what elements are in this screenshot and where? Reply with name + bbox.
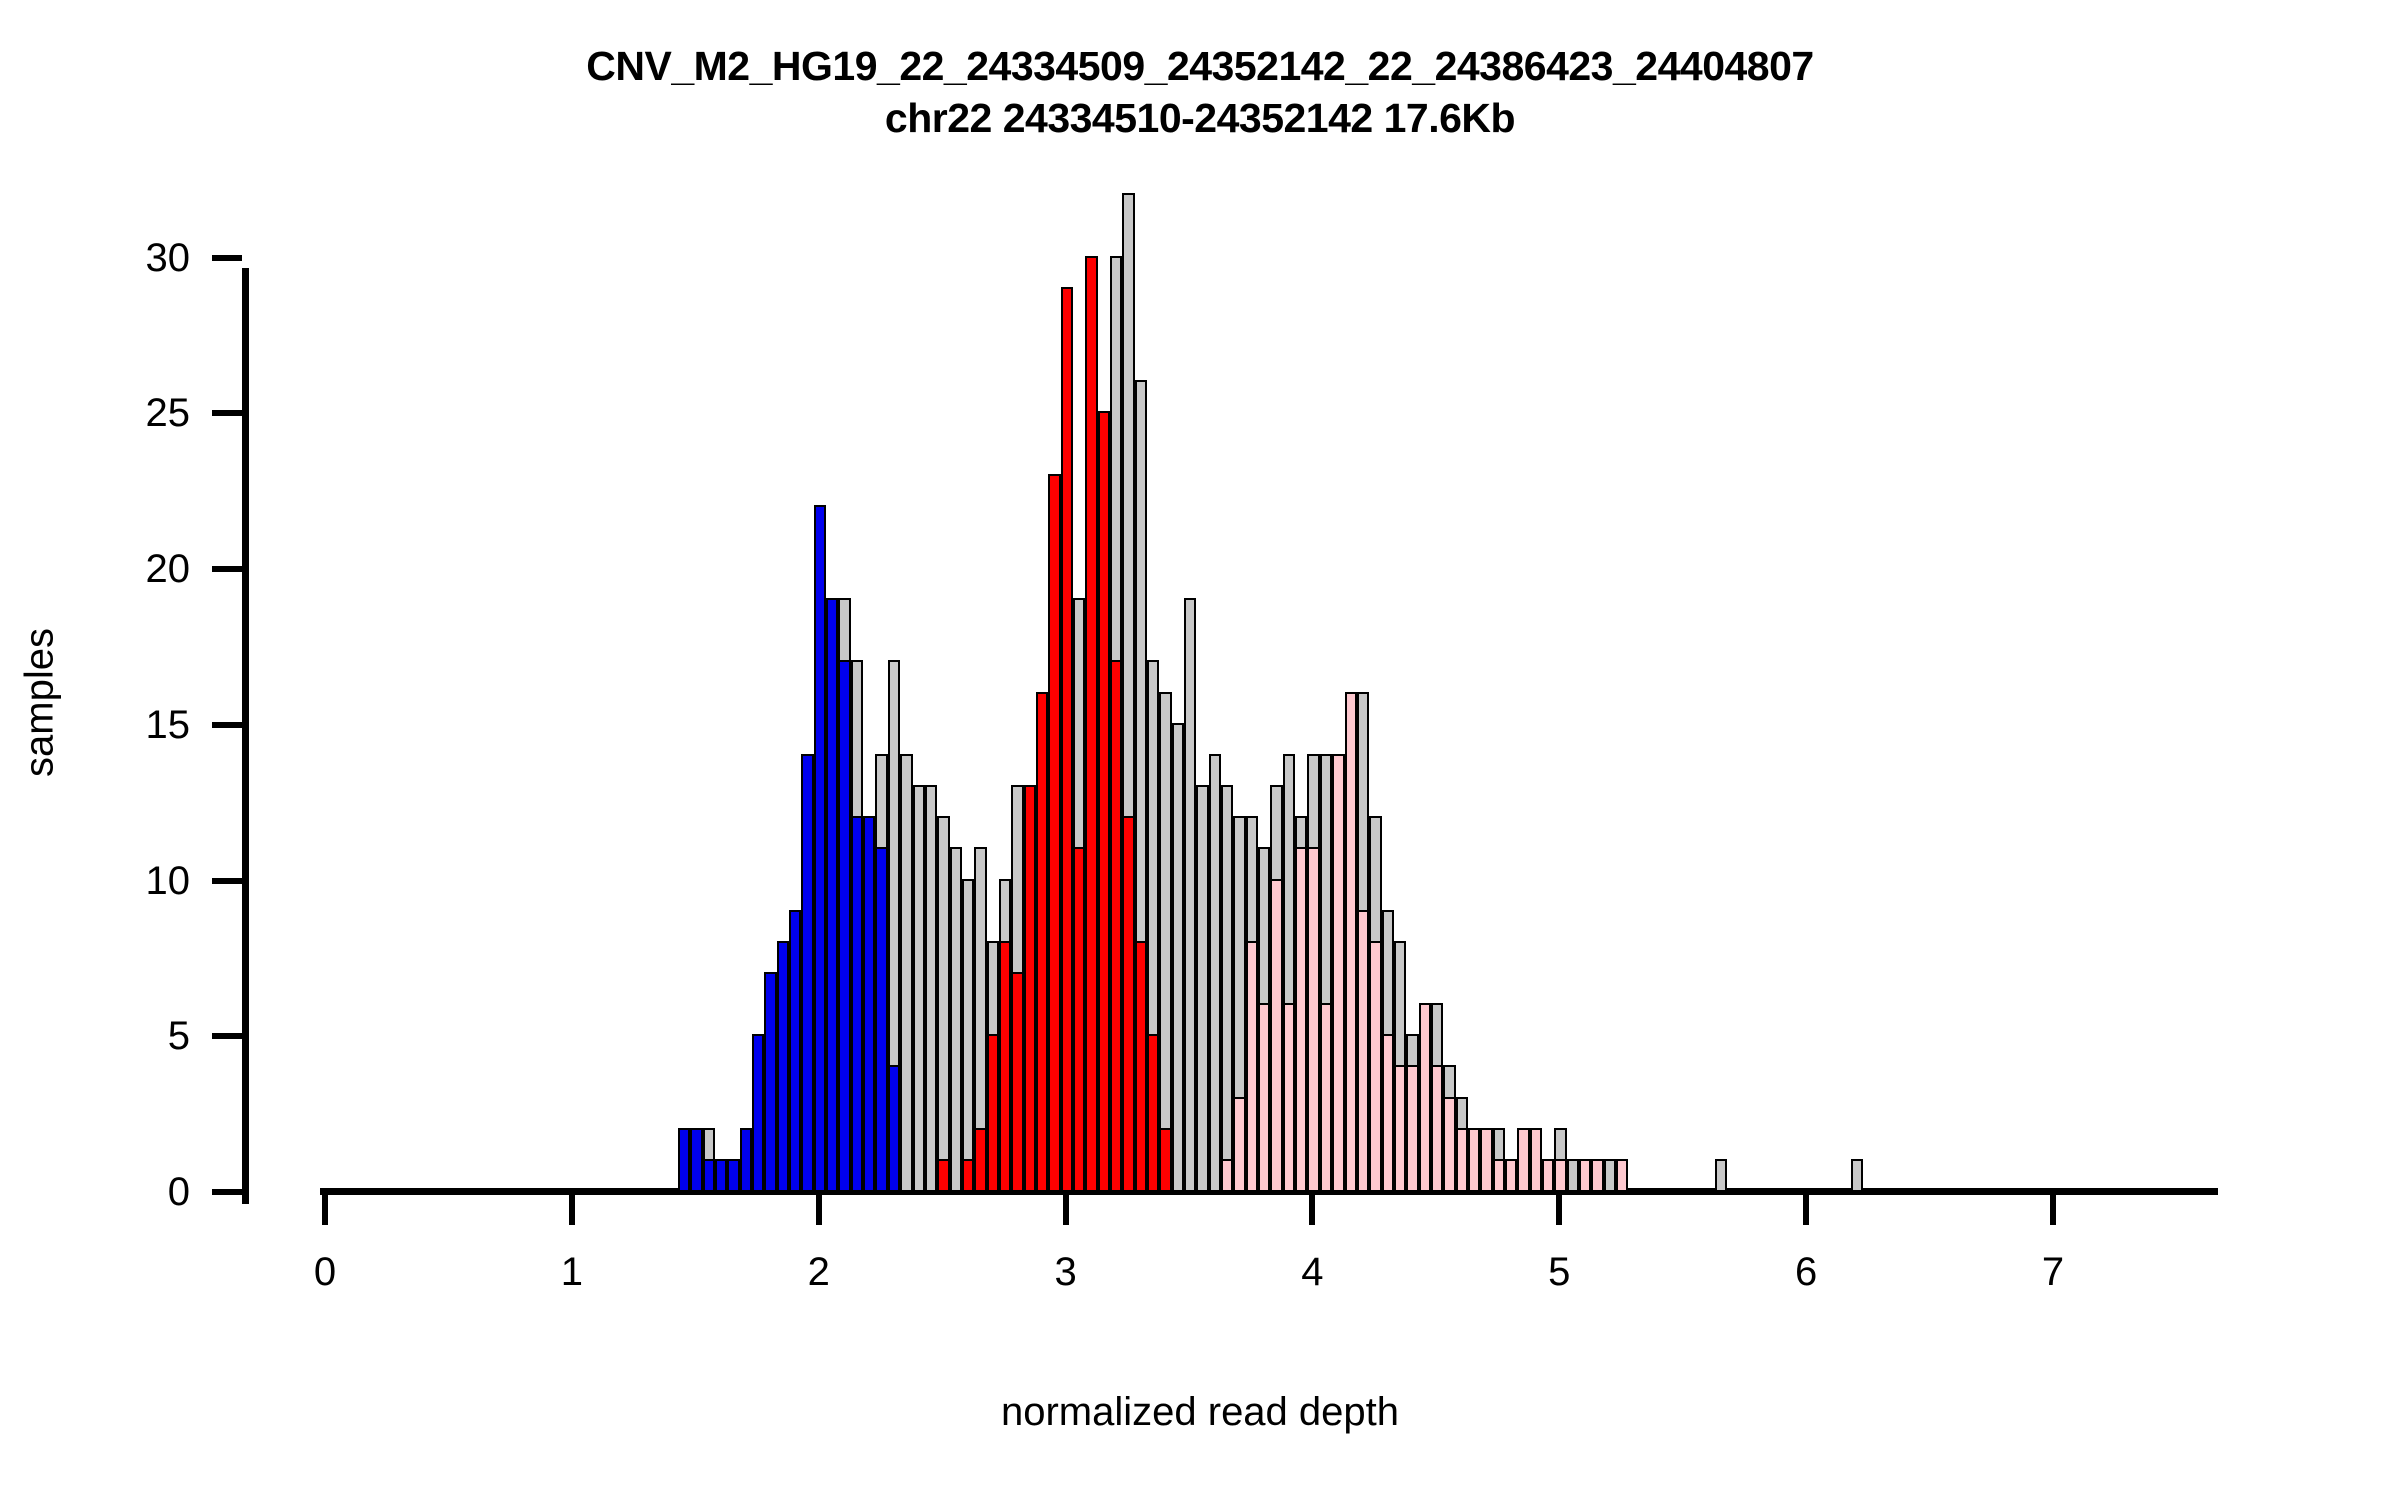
histogram-bar [1715, 1159, 1727, 1192]
x-axis-tick-label: 3 [1026, 1252, 1106, 1292]
histogram-bar [1382, 1034, 1394, 1192]
histogram-bar [678, 1128, 690, 1192]
x-axis-tick-label: 6 [1766, 1252, 1846, 1292]
x-axis-tick [1556, 1195, 1562, 1225]
y-axis-tick-label: 30 [100, 238, 190, 278]
x-axis-tick-label: 0 [285, 1252, 365, 1292]
x-axis-tick [569, 1195, 575, 1225]
histogram-bar [1221, 1159, 1233, 1192]
y-axis-tick [212, 1033, 242, 1039]
histogram-bar [1542, 1159, 1554, 1192]
histogram-bar [950, 847, 962, 1192]
x-axis-tick [2050, 1195, 2056, 1225]
histogram-bar [1085, 256, 1097, 1193]
histogram-bar [752, 1034, 764, 1192]
histogram-bar [1579, 1159, 1591, 1192]
histogram-bar [727, 1159, 739, 1192]
histogram-bar [888, 1065, 900, 1192]
histogram-bar [703, 1159, 715, 1192]
histogram-bar [764, 972, 776, 1192]
y-axis-tick [212, 566, 242, 572]
histogram-bar [1530, 1128, 1542, 1192]
y-axis-label: samples [18, 553, 63, 853]
histogram-bar [1851, 1159, 1863, 1192]
histogram-bar [1122, 816, 1134, 1192]
histogram-bar [1024, 785, 1036, 1192]
y-axis-tick-label: 5 [100, 1016, 190, 1056]
y-axis-line [242, 268, 249, 1204]
y-axis-tick-label: 25 [100, 393, 190, 433]
histogram-bar [962, 879, 974, 1193]
histogram-bar [1110, 660, 1122, 1192]
histogram-bar [789, 910, 801, 1192]
y-axis-tick-label: 20 [100, 549, 190, 589]
x-axis-tick [816, 1195, 822, 1225]
histogram-bar [1431, 1065, 1443, 1192]
x-axis-tick [1803, 1195, 1809, 1225]
histogram-bar [900, 754, 912, 1192]
histogram-bar [1061, 287, 1073, 1192]
x-axis-tick-label: 1 [532, 1252, 612, 1292]
histogram-bar [1480, 1128, 1492, 1192]
histogram-bar [875, 847, 887, 1192]
histogram-bar [1172, 723, 1184, 1192]
histogram-bar [1493, 1159, 1505, 1192]
histogram-bar [1468, 1128, 1480, 1192]
y-axis-tick [212, 878, 242, 884]
histogram-bar [1517, 1128, 1529, 1192]
histogram-bar [962, 1159, 974, 1192]
histogram-bar [913, 785, 925, 1192]
y-axis-tick-label: 10 [100, 861, 190, 901]
histogram-bar [826, 598, 838, 1192]
histogram-bar [851, 816, 863, 1192]
histogram-bar [937, 1159, 949, 1192]
plot-area: 01234567051015202530 [0, 0, 2400, 1500]
x-axis-label: normalized read depth [0, 1390, 2400, 1435]
histogram-bar [1233, 1097, 1245, 1192]
histogram-bar [863, 816, 875, 1192]
histogram-bar [1505, 1159, 1517, 1192]
histogram-bar [1011, 972, 1023, 1192]
histogram-bar [1036, 692, 1048, 1192]
histogram-bar [987, 1034, 999, 1192]
histogram-bar [1554, 1159, 1566, 1192]
histogram-bar [1073, 847, 1085, 1192]
histogram-bar [925, 785, 937, 1192]
x-axis-tick-label: 2 [779, 1252, 859, 1292]
histogram-bar [1345, 692, 1357, 1192]
y-axis-tick [212, 410, 242, 416]
histogram-bar [1196, 785, 1208, 1192]
histogram-bar [1209, 754, 1221, 1192]
histogram-bar [1159, 692, 1171, 1192]
histogram-bar [937, 816, 949, 1192]
x-axis-tick [322, 1195, 328, 1225]
histogram-bar [974, 1128, 986, 1192]
histogram-bar [1419, 1003, 1431, 1192]
histogram-bar [1147, 1034, 1159, 1192]
histogram-bar [801, 754, 813, 1192]
histogram-bar [1135, 941, 1147, 1192]
histogram-bar [1604, 1159, 1616, 1192]
y-axis-tick [212, 255, 242, 261]
histogram-bar [690, 1128, 702, 1192]
histogram-bar [1048, 474, 1060, 1192]
histogram-bar [1332, 754, 1344, 1192]
histogram-bar [715, 1159, 727, 1192]
histogram-bar [740, 1128, 752, 1192]
histogram-bar [1456, 1128, 1468, 1192]
histogram-bar [777, 941, 789, 1192]
y-axis-tick [212, 722, 242, 728]
histogram-bar [1159, 1128, 1171, 1192]
histogram-bar [1283, 1003, 1295, 1192]
histogram-bar [1394, 1065, 1406, 1192]
histogram-plot: CNV_M2_HG19_22_24334509_24352142_22_2438… [0, 0, 2400, 1500]
x-axis-tick-label: 5 [1519, 1252, 1599, 1292]
x-axis-tick-label: 7 [2013, 1252, 2093, 1292]
histogram-bar [1357, 910, 1369, 1192]
histogram-bar [1443, 1097, 1455, 1192]
histogram-bar [1320, 1003, 1332, 1192]
histogram-bar [1184, 598, 1196, 1192]
histogram-bar [838, 660, 850, 1192]
histogram-bar [814, 505, 826, 1192]
histogram-bar [1307, 847, 1319, 1192]
histogram-bar [1406, 1065, 1418, 1192]
y-axis-tick-label: 15 [100, 705, 190, 745]
histogram-bar [1221, 785, 1233, 1192]
histogram-bar [1098, 411, 1110, 1192]
x-axis-tick [1309, 1195, 1315, 1225]
histogram-bar [1567, 1159, 1579, 1192]
histogram-bar [1270, 879, 1282, 1193]
x-axis-tick [1063, 1195, 1069, 1225]
histogram-bar [1295, 847, 1307, 1192]
histogram-bar [1246, 941, 1258, 1192]
y-axis-tick-label: 0 [100, 1172, 190, 1212]
x-axis-tick-label: 4 [1272, 1252, 1352, 1292]
histogram-bar [1591, 1159, 1603, 1192]
histogram-bar [1258, 1003, 1270, 1192]
y-axis-tick [212, 1189, 242, 1195]
histogram-bar [1369, 941, 1381, 1192]
histogram-bar [1616, 1159, 1628, 1192]
histogram-bar [999, 941, 1011, 1192]
